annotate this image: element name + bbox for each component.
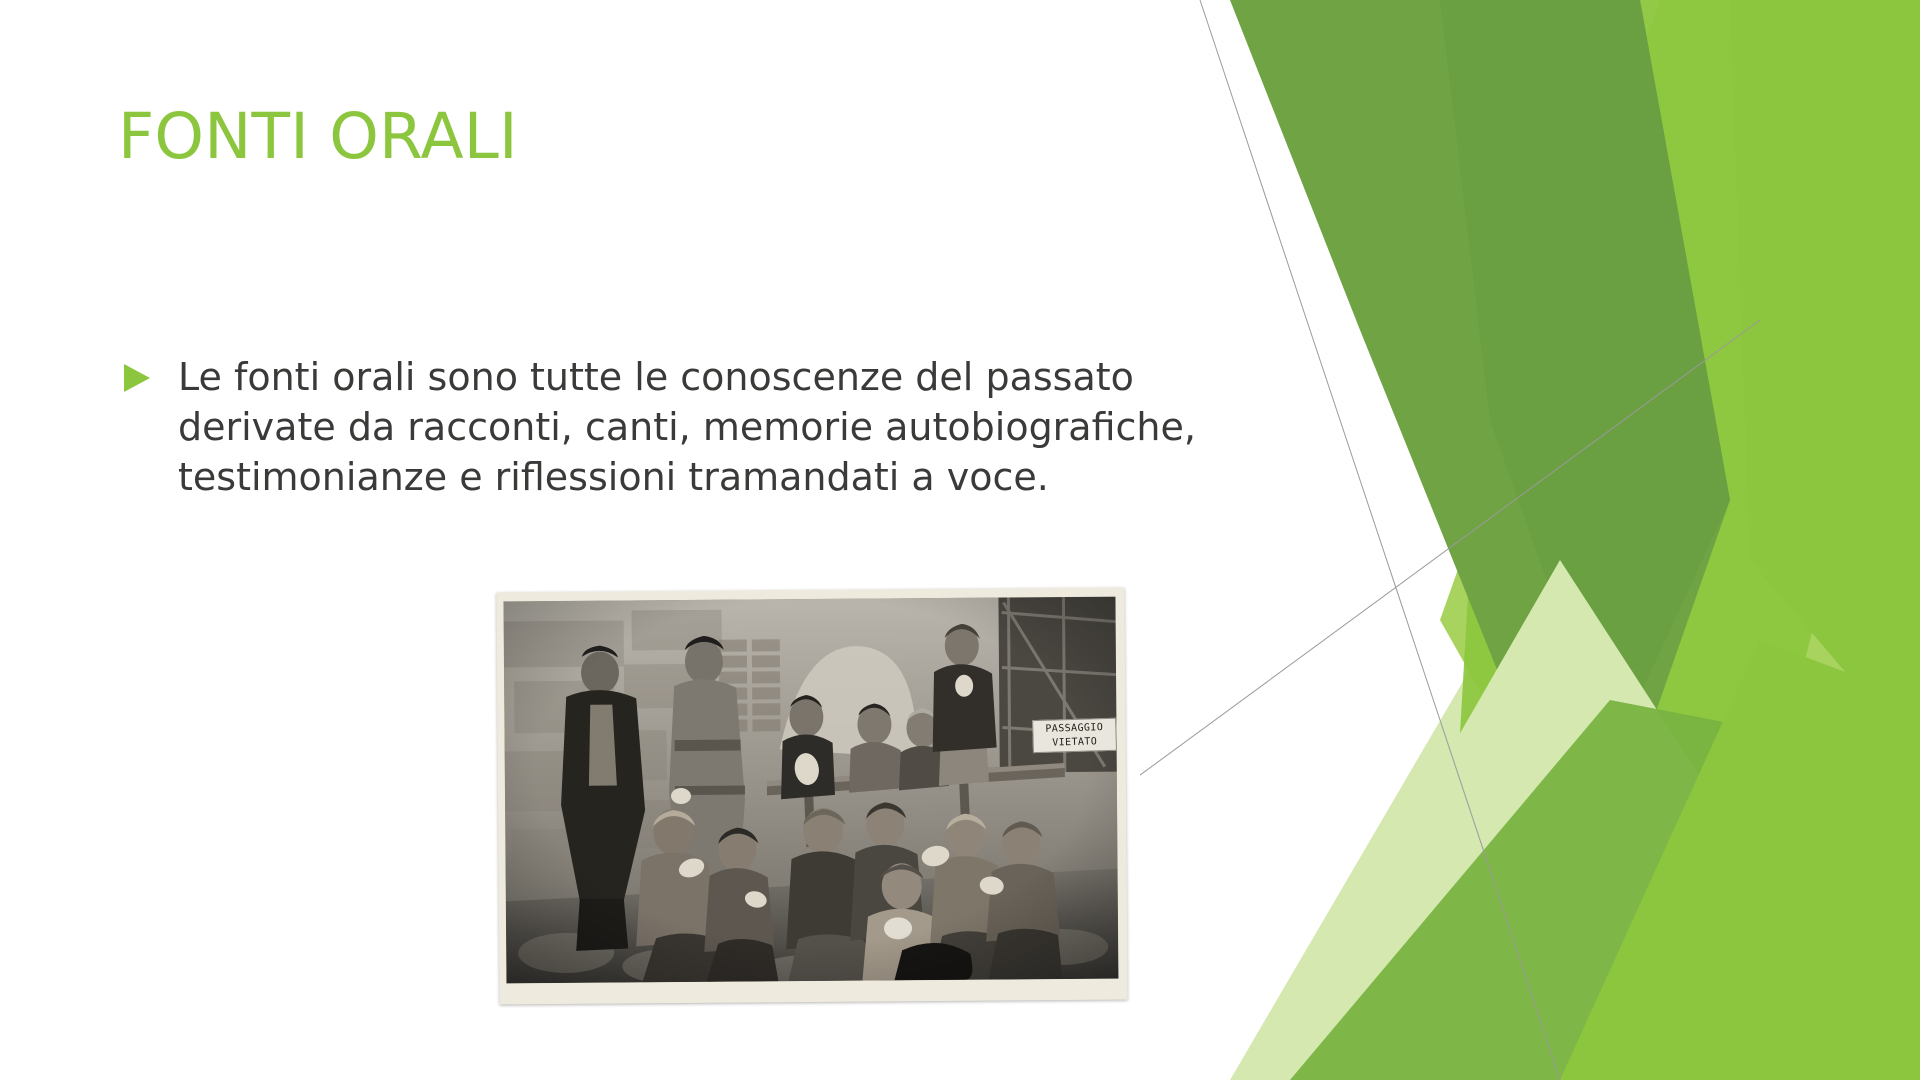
facet-shape-light (1440, 0, 1920, 1080)
bullet-line-3: testimonianze e riflessioni tramandati a… (178, 452, 1478, 502)
historic-photo-frame[interactable]: PASSAGGIO VIETATO (496, 588, 1127, 1005)
facet-shape-bright-lower (1560, 640, 1920, 1080)
facet-shape-mid (1440, 0, 1840, 1080)
historic-black-and-white-group-photo (503, 597, 1118, 984)
list-item: Le fonti orali sono tutte le conoscenze … (118, 352, 1478, 502)
presentation-slide: FONTI ORALI Le fonti orali sono tutte le… (0, 0, 1920, 1080)
facet-shape-pale-a (1290, 0, 1920, 1080)
body-text-placeholder: Le fonti orali sono tutte le conoscenze … (118, 352, 1478, 502)
passaggio-vietato-sign: PASSAGGIO VIETATO (1032, 718, 1117, 753)
sign-line-1: PASSAGGIO (1033, 721, 1115, 737)
photo-artwork-svg (503, 597, 1118, 984)
facet-shape-pale-lower (1260, 560, 1780, 1080)
facet-shape-bright-mid (1730, 0, 1920, 760)
facet-shape-bright-right (1570, 0, 1920, 1080)
facet-shape-dark-overlap (1440, 0, 1730, 760)
sign-line-2: VIETATO (1034, 735, 1116, 751)
facet-shape-mid-lower (1290, 700, 1920, 1080)
page-title: FONTI ORALI (118, 104, 1318, 170)
facet-shape-pale-b (1230, 0, 1920, 1080)
bullet-line-1: Le fonti orali sono tutte le conoscenze … (178, 352, 1478, 402)
triangle-right-bullet-icon (124, 364, 150, 392)
bullet-text-block: Le fonti orali sono tutte le conoscenze … (178, 352, 1478, 502)
bullet-line-2: derivate da racconti, canti, memorie aut… (178, 402, 1478, 452)
